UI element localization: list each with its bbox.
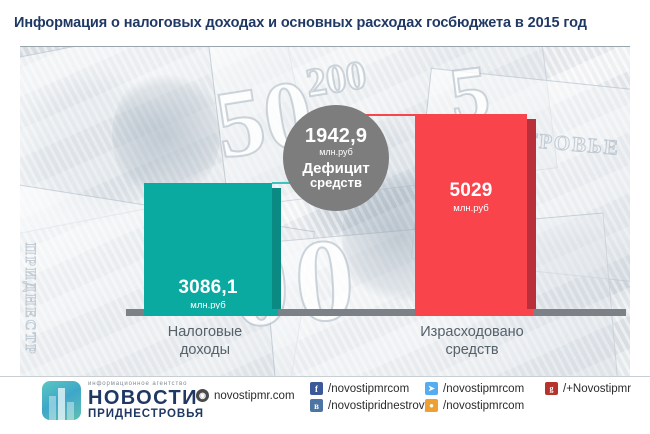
link-odnoklassniki[interactable]: ● /novostipmrcom [425, 399, 524, 412]
logo-bar [58, 388, 65, 420]
footer: информационное агентство НОВОСТИ ПРИДНЕС… [0, 376, 650, 434]
category-label-expenditure: Израсходовано средств [362, 323, 582, 359]
category-label-line1: Израсходовано [362, 323, 582, 341]
axis-segment-expenditure [415, 309, 533, 316]
bar-side-shadow [272, 188, 281, 314]
category-label-tax-revenue: Налоговые доходы [100, 323, 310, 359]
banknote-denomination-200: 200 [303, 51, 370, 107]
news-agency-logo-icon [42, 381, 81, 420]
bar-tax-revenue[interactable]: 3086,1 млн.руб [144, 183, 272, 309]
axis-segment-tax-revenue [144, 309, 278, 316]
bar-side-shadow [527, 119, 536, 314]
link-twitter-label: /novostipmrcom [443, 383, 524, 395]
category-label-line2: средств [362, 341, 582, 359]
brand-name: НОВОСТИ [88, 388, 204, 408]
deficit-annotation-circle[interactable]: 1942,9 млн.руб Дефицит средств [283, 105, 389, 211]
facebook-icon: f [310, 382, 323, 395]
logo-bar [67, 402, 74, 420]
brand-region: ПРИДНЕСТРОВЬЯ [88, 409, 204, 421]
deficit-label-line2: средств [310, 176, 362, 190]
brand-text: информационное агентство НОВОСТИ ПРИДНЕС… [88, 381, 204, 421]
bar-expenditure[interactable]: 5029 млн.руб [415, 114, 527, 309]
deficit-label-line1: Дефицит [302, 161, 369, 177]
link-twitter[interactable]: ➤ /novostipmrcom [425, 382, 524, 395]
globe-icon: ◉ [196, 389, 209, 402]
link-googleplus-label: /+Novostipmr [563, 383, 631, 395]
link-facebook-label: /novostipmrcom [328, 383, 409, 395]
vk-icon: в [310, 399, 323, 412]
link-odnoklassniki-label: /novostipmrcom [443, 400, 524, 412]
social-column-twitter-ok: ➤ /novostipmrcom ● /novostipmrcom [425, 382, 524, 416]
banknote-text-side: ПРИДНЕСТР [21, 243, 38, 356]
link-vk-label: /novostipridnestrovya [328, 400, 437, 412]
axis-baseline [126, 309, 626, 316]
logo-bar [49, 396, 56, 420]
brand-logo[interactable]: информационное агентство НОВОСТИ ПРИДНЕС… [42, 381, 204, 421]
category-label-line2: доходы [100, 341, 310, 359]
googleplus-icon: g [545, 382, 558, 395]
page-title: Информация о налоговых доходах и основны… [0, 0, 650, 45]
link-website[interactable]: ◉ novostipmr.com [196, 389, 295, 402]
social-column-googleplus: g /+Novostipmr [545, 382, 631, 399]
link-website-label: novostipmr.com [214, 390, 295, 402]
bar-unit-expenditure: млн.руб [415, 203, 527, 214]
link-vk[interactable]: в /novostipridnestrovya [310, 399, 437, 412]
category-label-line1: Налоговые [100, 323, 310, 341]
twitter-icon: ➤ [425, 382, 438, 395]
deficit-value: 1942,9 [305, 126, 367, 147]
social-column-facebook-vk: f /novostipmrcom в /novostipridnestrovya [310, 382, 437, 416]
bar-value-expenditure: 5029 [415, 180, 527, 202]
link-facebook[interactable]: f /novostipmrcom [310, 382, 437, 395]
deficit-unit: млн.руб [319, 148, 353, 157]
chart-panel: 50 200 5 00 СТРОВЬЕ ПРИДНЕСТР 3086,1 млн… [20, 46, 630, 377]
bar-value-tax-revenue: 3086,1 [144, 277, 272, 299]
link-googleplus[interactable]: g /+Novostipmr [545, 382, 631, 395]
odnoklassniki-icon: ● [425, 399, 438, 412]
social-column-website: ◉ novostipmr.com [196, 389, 295, 406]
banknote-portrait [112, 69, 220, 201]
